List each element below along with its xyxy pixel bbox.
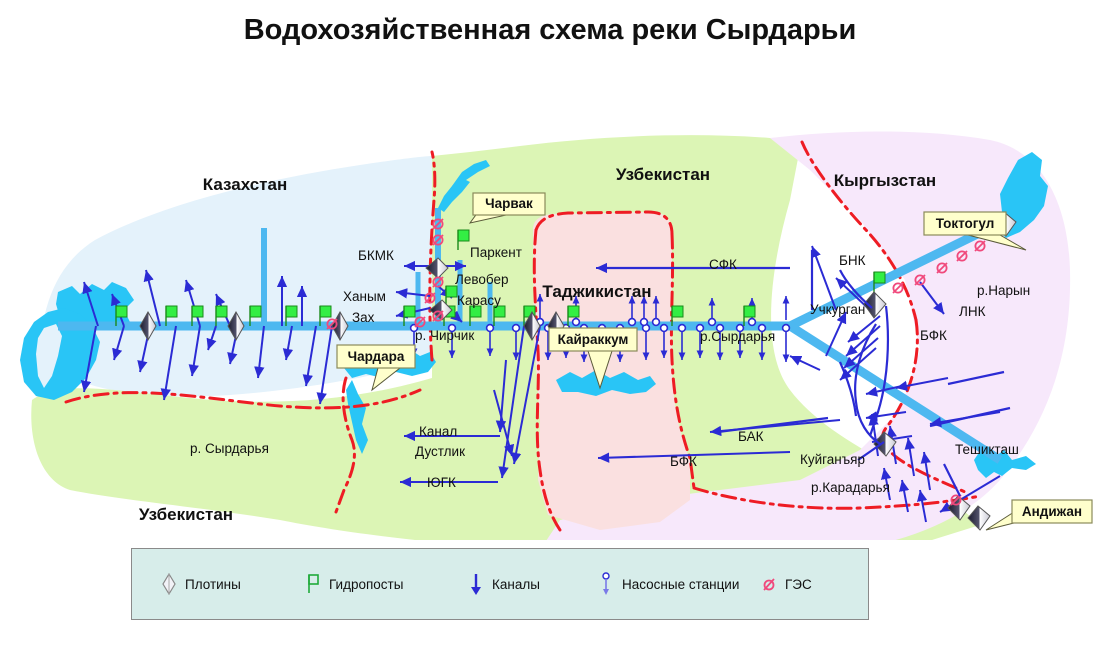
hydropost-icon: [744, 306, 755, 317]
callout-label-andijan: Андижан: [1022, 504, 1082, 519]
dam-icon: [160, 571, 178, 597]
label-yugk: ЮГК: [427, 475, 456, 490]
label-zakh: Зах: [352, 310, 375, 325]
label-r-syrdarya-right: р.Сырдарья: [700, 329, 775, 344]
label-uchkurgan: Учкурган: [810, 302, 865, 317]
label-kanal: Канал: [419, 424, 457, 439]
country-label-tajikistan: Таджикистан: [542, 282, 651, 301]
callout-label-kayrakkum: Кайраккум: [558, 332, 629, 347]
legend-label-canals: Каналы: [492, 577, 540, 592]
pump-station-icon: [641, 319, 648, 326]
canal-arrow-icon: [467, 571, 485, 597]
country-label-uzbekistan-bottom: Узбекистан: [139, 505, 233, 524]
legend-item-canals: Каналы: [467, 571, 540, 597]
hydropost-icon: [166, 306, 177, 317]
legend-item-ges: ГЭС: [760, 571, 812, 597]
legend-label-hydroposts: Гидропосты: [329, 577, 403, 592]
hydropost-icon: [404, 306, 415, 317]
hydropost-icon: [874, 272, 885, 283]
pump-station-icon: [783, 325, 790, 332]
label-r-naryn: р.Нарын: [977, 283, 1030, 298]
label-khanym: Ханым: [343, 289, 386, 304]
pump-station-icon: [573, 319, 580, 326]
canal-arrow: [826, 312, 846, 356]
label-bfk-right: БФК: [920, 328, 947, 343]
pump-station-icon: [661, 325, 668, 332]
callout-label-charvak: Чарвак: [485, 196, 533, 211]
legend-label-ges: ГЭС: [785, 577, 812, 592]
hydropost-icon: [304, 571, 322, 597]
pump-station-icon: [749, 319, 756, 326]
pump-station-icon: [653, 319, 660, 326]
region-tajikistan: [533, 212, 690, 530]
ges-icon: [893, 283, 903, 293]
legend-item-hydroposts: Гидропосты: [304, 571, 403, 597]
hydropost-icon: [286, 306, 297, 317]
canal-arrow: [812, 246, 836, 310]
label-parkent: Паркент: [470, 245, 522, 260]
pump-station-icon: [679, 325, 686, 332]
label-bak: БАК: [738, 429, 764, 444]
label-bkmk: БКМК: [358, 248, 394, 263]
ges-icon: [760, 571, 778, 597]
callout-chardara: Чардара: [337, 345, 415, 390]
callout-andijan: Андижан: [986, 500, 1092, 530]
hydropost-icon: [446, 286, 457, 297]
pump-station-icon: [513, 325, 520, 332]
callout-label-chardara: Чардара: [348, 349, 405, 364]
hydropost-icon: [116, 306, 127, 317]
country-label-kazakhstan: Казахстан: [203, 175, 287, 194]
hydropost-icon: [216, 306, 227, 317]
label-kuyganyar: Куйганъяр: [800, 452, 865, 467]
page-title: Водохозяйственная схема реки Сырдарьи: [0, 14, 1100, 47]
label-karasu: Карасу: [457, 293, 501, 308]
label-dustlik: Дустлик: [415, 444, 465, 459]
hydropost-icon: [568, 306, 579, 317]
country-label-uzbekistan-top: Узбекистан: [616, 165, 710, 184]
hydropost-icon: [672, 306, 683, 317]
label-levober: Левобер: [455, 272, 509, 287]
pump-station-icon: [487, 325, 494, 332]
pump-station-icon: [629, 319, 636, 326]
label-lnk: ЛНК: [959, 304, 986, 319]
label-bnk: БНК: [839, 253, 866, 268]
hydropost-icon: [320, 306, 331, 317]
country-label-kyrgyzstan-top: Кыргызстан: [834, 171, 936, 190]
label-bfk-center: БФК: [670, 454, 697, 469]
callout-label-toktogul: Токтогул: [936, 216, 995, 231]
canal-arrow: [790, 356, 820, 370]
label-r-karadarya: р.Карадарья: [811, 480, 890, 495]
label-teshiktash: Тешикташ: [955, 442, 1019, 457]
label-sfk: СФК: [709, 257, 737, 272]
legend-label-dams: Плотины: [185, 577, 241, 592]
water-scheme-map: Водохозяйственная схема реки Сырдарьи: [0, 0, 1100, 649]
hydropost-icon: [250, 306, 261, 317]
label-r-chirchik: р. Чирчик: [415, 328, 474, 343]
label-r-syrdarya-left: р. Сырдарья: [190, 441, 269, 456]
legend-panel: Плотины Гидропосты Каналы Насосные станц…: [131, 548, 869, 620]
map-canvas: Казахстан Узбекистан Таджикистан Кыргызс…: [0, 60, 1100, 540]
legend-item-dams: Плотины: [160, 571, 241, 597]
hydropost-icon: [192, 306, 203, 317]
legend-label-pump-stations: Насосные станции: [622, 577, 739, 592]
pump-station-icon: [709, 319, 716, 326]
pump-station-icon: [597, 571, 615, 597]
hydropost-icon: [458, 230, 469, 241]
legend-item-pump-stations: Насосные станции: [597, 571, 739, 597]
